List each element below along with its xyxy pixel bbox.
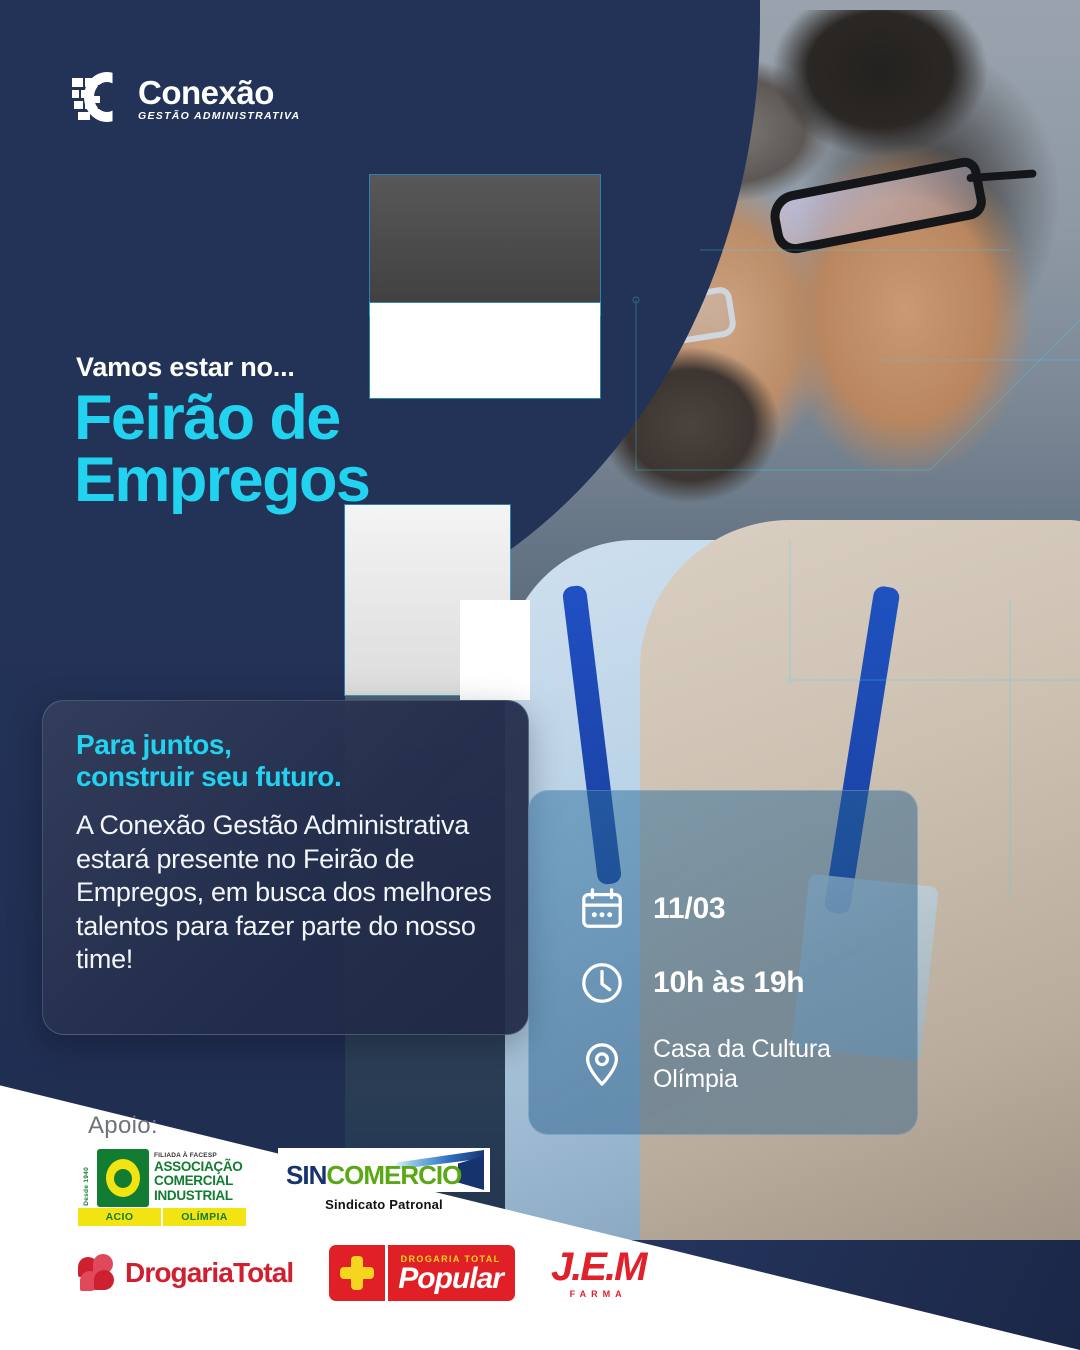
event-date: 11/03	[653, 892, 725, 926]
sincomercio-word-a: SIN	[286, 1160, 326, 1190]
acio-emblem-icon	[97, 1149, 149, 1207]
acio-word3: INDUSTRIAL	[154, 1189, 243, 1203]
event-venue-line1: Casa da Cultura	[653, 1034, 831, 1064]
location-pin-icon	[579, 1041, 625, 1087]
conexao-c-icon	[72, 72, 130, 126]
card-title-line1: Para juntos,	[76, 729, 498, 761]
card-body: A Conexão Gestão Administrativa estará p…	[76, 809, 498, 976]
acio-logo: Desde 1940 FILIADA À FACESP ASSOCIAÇÃO C…	[78, 1148, 246, 1226]
acio-desde: Desde 1940	[83, 1167, 90, 1206]
logo-name: Conexão	[138, 76, 300, 109]
promo-poster: Conexão GESTÃO ADMINISTRATIVA Vamos esta…	[0, 0, 1080, 1350]
acio-word2: COMERCIAL	[154, 1174, 243, 1188]
event-venue: Casa da Cultura Olímpia	[653, 1034, 831, 1094]
sincomercio-logo: SINCOMERCIO Sindicato Patronal	[278, 1148, 490, 1212]
sincomercio-word-b: COMERCIO	[326, 1160, 461, 1190]
message-card: Para juntos, construir seu futuro. A Con…	[42, 700, 529, 1035]
card-title: Para juntos, construir seu futuro.	[76, 729, 498, 792]
brand-logo: Conexão GESTÃO ADMINISTRATIVA	[72, 72, 300, 126]
event-details-panel: 11/03 10h às 19h Casa da Cultura Olímpia	[528, 790, 918, 1135]
card-title-line2: construir seu futuro.	[76, 761, 498, 793]
clock-icon	[579, 960, 625, 1006]
acio-bar-right: OLÍMPIA	[163, 1208, 246, 1226]
hero-title-line1: Feirão de	[74, 388, 369, 450]
sponsor-row-bottom: DrogariaTotal DROGARIA TOTAL Popular J.E…	[78, 1245, 645, 1301]
event-venue-row: Casa da Cultura Olímpia	[579, 1034, 831, 1094]
drogaria-total-logo: DrogariaTotal	[78, 1254, 293, 1292]
popular-name: Popular	[398, 1264, 503, 1294]
acio-word1: ASSOCIAÇÃO	[154, 1160, 243, 1174]
logo-tagline: GESTÃO ADMINISTRATIVA	[138, 111, 300, 122]
event-venue-line2: Olímpia	[653, 1064, 831, 1094]
sponsor-row-top: Desde 1940 FILIADA À FACESP ASSOCIAÇÃO C…	[78, 1148, 490, 1226]
hero-kicker: Vamos estar no...	[76, 352, 295, 383]
acio-bar-left: ACIO	[78, 1208, 163, 1226]
jem-farma-logo: J.E.M FARMA	[551, 1247, 645, 1299]
hero-title-line2: Empregos	[74, 450, 369, 512]
event-time-row: 10h às 19h	[579, 960, 831, 1006]
popular-logo: DROGARIA TOTAL Popular	[329, 1245, 515, 1301]
jem-subtitle: FARMA	[570, 1289, 627, 1299]
hero-title: Feirão de Empregos	[74, 388, 369, 511]
event-time: 10h às 19h	[653, 966, 804, 1000]
popular-cross-icon	[329, 1245, 385, 1301]
sponsors-label: Apoio:	[88, 1112, 158, 1140]
drogaria-total-flower-icon	[78, 1254, 116, 1292]
sincomercio-subtitle: Sindicato Patronal	[325, 1197, 443, 1212]
event-date-row: 11/03	[579, 886, 831, 932]
calendar-icon	[579, 886, 625, 932]
drogaria-total-name: DrogariaTotal	[125, 1257, 293, 1289]
jem-name: J.E.M	[551, 1247, 645, 1287]
